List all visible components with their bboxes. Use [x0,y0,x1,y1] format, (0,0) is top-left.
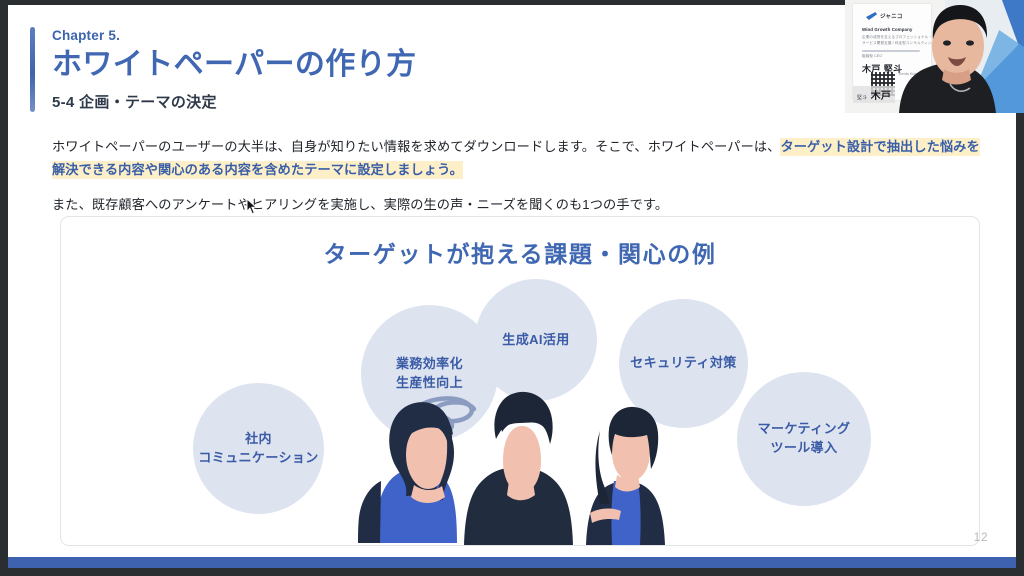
paragraph-2: また、既存顧客へのアンケートやヒアリングを実施し、実際の生の声・ニーズを聞くのも… [52,194,987,217]
diagram-card: ターゲットが抱える課題・関心の例 社内 コミュニケーション 業務効率化 生産性向… [60,216,980,546]
bubble-ai-line1: 生成AI活用 [502,331,569,350]
bubble-shanai-communication: 社内 コミュニケーション [193,383,324,514]
paragraph-1: ホワイトペーパーのユーザーの大半は、自身が知りたい情報を求めてダウンロードします… [52,136,987,181]
bubble-shanai-line2: コミュニケーション [198,449,318,468]
header-text-group: Chapter 5. ホワイトペーパーの作り方 5-4 企画・テーマの決定 [52,27,417,112]
card-role-label: 取締役 CEO [862,54,882,59]
page-title: ホワイトペーパーの作り方 [52,47,417,84]
bottom-accent-bar [8,557,1016,568]
nameplate-given-name: 堅斗 [857,94,868,101]
body-copy: ホワイトペーパーのユーザーの大半は、自身が知りたい情報を求めてダウンロードします… [52,136,987,217]
screen-root: Chapter 5. ホワイトペーパーの作り方 5-4 企画・テーマの決定 ホワ… [0,0,1024,576]
three-people-illustration-icon [351,365,716,545]
logo-mark-icon [866,12,877,20]
bubble-shanai-line1: 社内 [198,430,318,449]
slide-header: Chapter 5. ホワイトペーパーの作り方 5-4 企画・テーマの決定 [30,27,417,112]
presenter-nameplate: 堅斗 木戸 [853,86,895,103]
webcam-overlay[interactable]: ジャニコ Wind Growth Company 企業の成長を支えるプロフェッシ… [845,0,1024,113]
paragraph-1-text: ホワイトペーパーのユーザーの大半は、自身が知りたい情報を求めてダウンロードします… [52,139,780,154]
bubble-marketing-line2: ツール導入 [758,439,851,458]
page-number: 12 [974,530,988,544]
diagram-title: ターゲットが抱える課題・関心の例 [61,235,979,269]
chapter-label: Chapter 5. [52,28,417,45]
bubble-marketing-line1: マーケティング [758,420,851,439]
header-accent-bar [30,27,35,112]
webcam-presenter-video [895,0,1024,113]
nameplate-family-name: 木戸 [871,87,892,102]
bubble-marketing-tool: マーケティング ツール導入 [737,372,871,506]
section-subtitle: 5-4 企画・テーマの決定 [52,91,417,112]
